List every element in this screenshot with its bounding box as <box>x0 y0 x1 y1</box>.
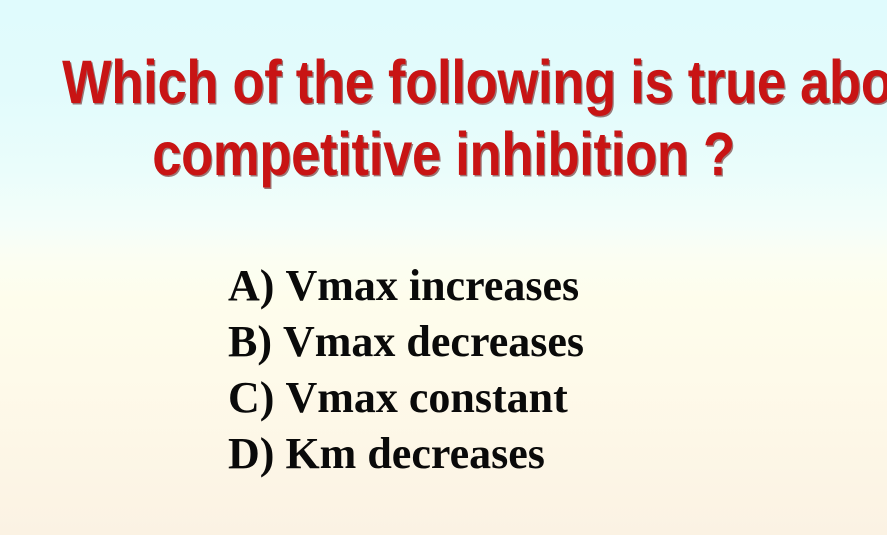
answer-option-d[interactable]: D) Km decreases <box>228 426 848 482</box>
answer-option-c[interactable]: C) Vmax constant <box>228 370 848 426</box>
answer-option-d-label: D) <box>228 429 274 478</box>
question-heading: Which of the following is true about com… <box>62 46 825 190</box>
quiz-slide: Which of the following is true about com… <box>0 0 887 535</box>
answer-option-b-text: Vmax decreases <box>283 317 584 366</box>
answer-option-a-text: Vmax increases <box>285 261 579 310</box>
question-line-1: Which of the following is true about <box>62 46 825 118</box>
answer-option-a-label: A) <box>228 261 274 310</box>
answer-option-d-text: Km decreases <box>285 429 544 478</box>
answer-options-list: A) Vmax increases B) Vmax decreases C) V… <box>228 258 848 482</box>
answer-option-b[interactable]: B) Vmax decreases <box>228 314 848 370</box>
answer-option-a[interactable]: A) Vmax increases <box>228 258 848 314</box>
answer-option-c-text: Vmax constant <box>285 373 567 422</box>
answer-option-c-label: C) <box>228 373 274 422</box>
answer-option-b-label: B) <box>228 317 272 366</box>
question-line-2: competitive inhibition ? <box>62 118 825 190</box>
